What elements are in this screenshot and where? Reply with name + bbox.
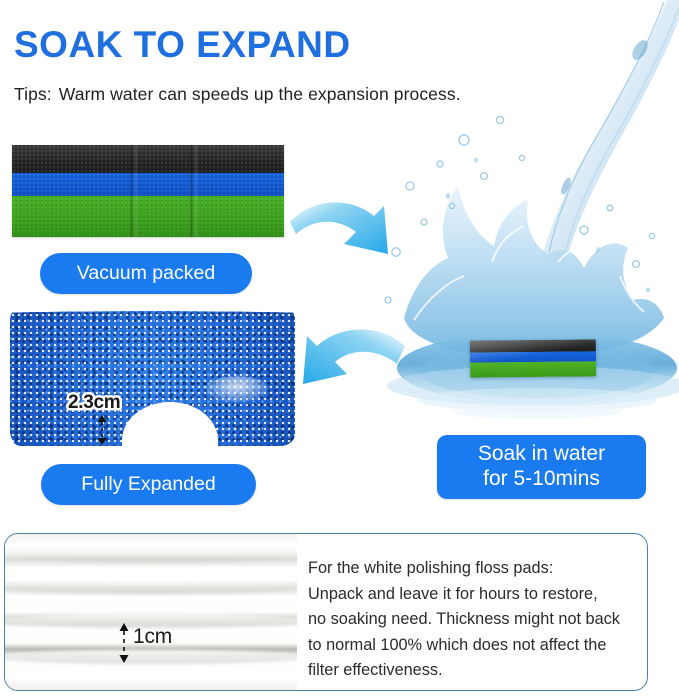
- sponge-thickness-arrow-icon: [96, 414, 108, 446]
- soak-in-water-caption: Soak in water for 5-10mins: [437, 435, 646, 499]
- instruction-line-4: to normal 100% which does not affect the: [308, 633, 638, 659]
- expanded-sponge-image: [10, 306, 295, 446]
- packed-pad-fold-left: [130, 145, 137, 237]
- floss-pad-instructions: For the white polishing floss pads: Unpa…: [308, 556, 638, 684]
- floss-pads-image: [5, 534, 297, 690]
- soak-caption-line2: for 5-10mins: [483, 467, 600, 492]
- page-title: SOAK TO EXPAND: [14, 26, 351, 63]
- tips-label: Tips:: [14, 84, 52, 104]
- instruction-line-3: no soaking need. Thickness might not bac…: [308, 607, 638, 633]
- sponge-top-edge: [10, 302, 295, 316]
- instruction-line-5: filter effectiveness.: [308, 658, 638, 684]
- sponge-highlight: [206, 376, 268, 402]
- tips-line: Tips:Warm water can speeds up the expans…: [14, 84, 461, 105]
- instruction-line-1: For the white polishing floss pads:: [308, 556, 638, 582]
- fully-expanded-caption: Fully Expanded: [41, 464, 256, 505]
- packed-pad-texture: [12, 145, 284, 237]
- vacuum-packed-caption: Vacuum packed: [40, 253, 252, 294]
- pad-sheen: [470, 339, 596, 377]
- instruction-line-2: Unpack and leave it for hours to restore…: [308, 582, 638, 608]
- vacuum-packed-label: Vacuum packed: [77, 262, 215, 285]
- vacuum-packed-pad-image: [12, 145, 284, 237]
- arrow-right-down-icon: [288, 192, 410, 274]
- sponge-thickness-label: 2.3cm: [68, 392, 120, 414]
- arrow-left-down-icon: [285, 320, 407, 402]
- tips-text: Warm water can speeds up the expansion p…: [59, 84, 461, 104]
- infographic-canvas: SOAK TO EXPAND Tips:Warm water can speed…: [0, 0, 679, 697]
- floss-thickness-arrow-icon: [118, 622, 130, 664]
- submerged-filter-pad: [470, 339, 596, 377]
- packed-pad-fold-right: [190, 145, 197, 237]
- floss-thickness-label: 1cm: [133, 625, 172, 649]
- soak-caption-line1: Soak in water: [478, 442, 605, 467]
- fully-expanded-label: Fully Expanded: [81, 473, 215, 496]
